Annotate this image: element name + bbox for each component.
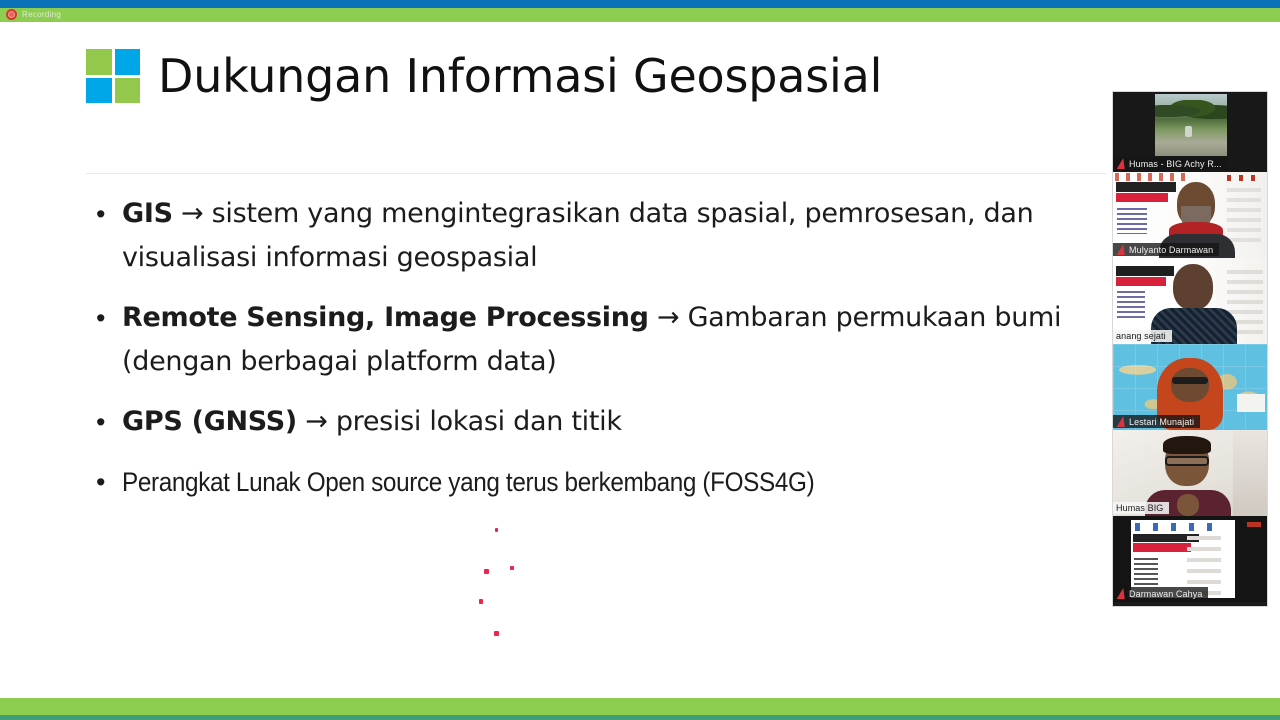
bullet-text-2: Remote Sensing, Image Processing → Gamba…	[122, 296, 1106, 384]
video-tile[interactable]: Humas BIG	[1113, 430, 1267, 516]
list-item: • GIS → sistem yang mengintegrasikan dat…	[96, 192, 1106, 280]
slide-title-row: Dukungan Informasi Geospasial	[86, 49, 882, 103]
bullet-rest-3: presisi lokasi dan titik	[336, 406, 622, 437]
participant-name-badge: Mulyanto Darmawan	[1113, 243, 1219, 256]
bullet-text-3: GPS (GNSS) → presisi lokasi dan titik	[122, 400, 622, 444]
video-tile[interactable]: Darmawan Cahya	[1113, 516, 1267, 602]
laser-mark	[510, 566, 514, 570]
bullet-marker: •	[96, 400, 122, 444]
participant-name-badge: Lestari Munajati	[1113, 415, 1200, 428]
video-tile[interactable]: Humas - BIG Achy R...	[1113, 92, 1267, 172]
backdrop-watermark	[1227, 188, 1261, 248]
brand-logo-icon	[86, 49, 140, 103]
shared-slide-logos	[1135, 523, 1223, 531]
laser-mark	[479, 599, 483, 604]
video-participant-panel[interactable]: Humas - BIG Achy R... Mulyanto Darmawan …	[1112, 91, 1268, 607]
zoom-logo-icon	[1116, 158, 1125, 169]
zoom-logo-icon	[1116, 416, 1125, 427]
arrow-glyph-2: →	[649, 302, 688, 333]
logo-tile-top-right	[115, 49, 141, 75]
laser-mark	[495, 528, 498, 532]
participant-name: Mulyanto Darmawan	[1129, 245, 1213, 255]
shared-slide-right-logo	[1247, 522, 1261, 527]
participant-name-badge: Humas BIG	[1113, 502, 1169, 514]
participant-name: Humas BIG	[1116, 503, 1163, 513]
zoom-logo-icon	[1116, 588, 1125, 599]
bullet-marker: •	[96, 460, 122, 504]
bullet-marker: •	[96, 296, 122, 340]
participant-name: Lestari Munajati	[1129, 417, 1194, 427]
shared-slide-text	[1134, 558, 1158, 586]
participant-name-badge: Humas - BIG Achy R...	[1113, 157, 1228, 170]
backdrop-text-block	[1117, 208, 1147, 234]
participant-name: anang sejati	[1116, 331, 1166, 341]
logo-tile-top-left	[86, 49, 112, 75]
zoom-logo-icon	[1116, 244, 1125, 255]
list-item: • Remote Sensing, Image Processing → Gam…	[96, 296, 1106, 384]
list-item: • GPS (GNSS) → presisi lokasi dan titik	[96, 400, 1106, 444]
bullet-bold-2: Remote Sensing, Image Processing	[122, 302, 649, 333]
footer-green-bar	[0, 698, 1280, 715]
recording-bar-green-strip	[0, 8, 1280, 22]
backdrop-banner-subtitle	[1116, 193, 1168, 202]
logo-tile-bottom-right	[115, 78, 141, 104]
bullet-rest-1: sistem yang mengintegrasikan data spasia…	[122, 198, 1042, 273]
video-tile[interactable]: Lestari Munajati	[1113, 344, 1267, 430]
bullet-bold-1: GIS	[122, 198, 173, 229]
backdrop-text-block	[1117, 291, 1145, 321]
backdrop-right-logo	[1227, 175, 1261, 181]
bullet-list: • GIS → sistem yang mengintegrasikan dat…	[96, 192, 1106, 520]
video-tile[interactable]: Mulyanto Darmawan	[1113, 172, 1267, 258]
arrow-glyph-3: →	[297, 406, 336, 437]
laser-mark	[484, 569, 489, 574]
recording-indicator[interactable]: Recording	[4, 7, 67, 22]
bullet-rest-4: Perangkat Lunak Open source yang terus b…	[122, 467, 814, 497]
logo-tile-bottom-left	[86, 78, 112, 104]
footer-teal-bar	[0, 715, 1280, 720]
participant-name-badge: anang sejati	[1113, 330, 1172, 342]
video-tile[interactable]: anang sejati	[1113, 258, 1267, 344]
participant-video-thumbnail	[1155, 94, 1227, 156]
presentation-slide: Dukungan Informasi Geospasial • GIS → si…	[0, 22, 1280, 698]
backdrop-logos	[1115, 173, 1185, 181]
title-divider	[86, 173, 1106, 174]
bullet-marker: •	[96, 192, 122, 236]
room-wall	[1233, 430, 1267, 516]
participant-name: Darmawan Cahya	[1129, 589, 1202, 599]
recording-label: Recording	[22, 10, 61, 19]
shared-slide-subtitle	[1133, 543, 1191, 552]
laser-mark	[494, 631, 499, 636]
map-legend-box	[1237, 394, 1265, 412]
participant-name-badge: Darmawan Cahya	[1113, 587, 1208, 600]
bullet-text-1: GIS → sistem yang mengintegrasikan data …	[122, 192, 1106, 280]
arrow-glyph-1: →	[173, 198, 212, 229]
recording-bar-blue-strip	[0, 0, 1280, 8]
bullet-bold-3: GPS (GNSS)	[122, 406, 297, 437]
participant-name: Humas - BIG Achy R...	[1129, 159, 1222, 169]
list-item: • Perangkat Lunak Open source yang terus…	[96, 460, 1106, 504]
bullet-text-4: Perangkat Lunak Open source yang terus b…	[122, 460, 814, 504]
record-dot-icon	[6, 9, 17, 20]
page-title: Dukungan Informasi Geospasial	[158, 49, 882, 103]
